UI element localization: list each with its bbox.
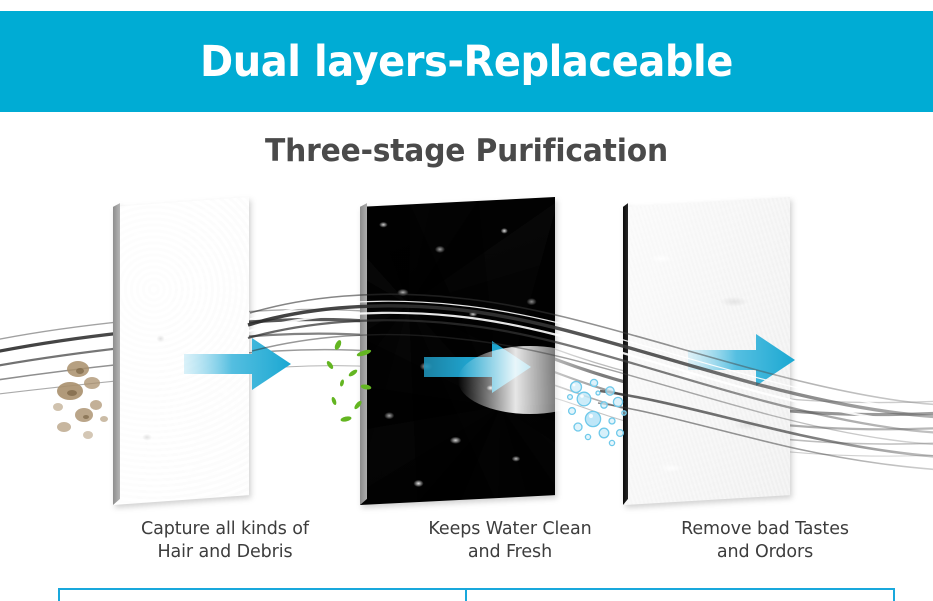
stage-captions: Capture all kinds of Hair and Debris Kee… xyxy=(0,518,933,564)
caption-stage-3-line-2: and Ordors xyxy=(645,541,885,564)
water-bubble-particles xyxy=(560,375,632,450)
water-stream-front xyxy=(0,185,933,525)
spec-table-cell-right-text xyxy=(467,590,893,592)
three-stage-illustration xyxy=(0,185,933,525)
section-subtitle: Three-stage Purification xyxy=(19,133,915,169)
spec-table xyxy=(58,588,895,601)
spec-table-cell-left xyxy=(60,590,467,601)
green-algae-particles xyxy=(320,335,382,430)
header-banner: Dual layers-Replaceable xyxy=(0,11,933,112)
caption-stage-3: Remove bad Tastes and Ordors xyxy=(645,518,885,564)
caption-stage-1: Capture all kinds of Hair and Debris xyxy=(75,518,375,564)
caption-stage-1-line-2: Hair and Debris xyxy=(75,541,375,564)
caption-stage-2-line-1: Keeps Water Clean xyxy=(390,518,630,541)
caption-stage-2: Keeps Water Clean and Fresh xyxy=(390,518,630,564)
caption-stage-3-line-1: Remove bad Tastes xyxy=(645,518,885,541)
spec-table-cell-left-text xyxy=(60,590,465,592)
caption-stage-1-line-1: Capture all kinds of xyxy=(75,518,375,541)
caption-stage-2-line-2: and Fresh xyxy=(390,541,630,564)
spec-table-cell-right xyxy=(467,590,893,601)
banner-title: Dual layers-Replaceable xyxy=(200,37,733,87)
